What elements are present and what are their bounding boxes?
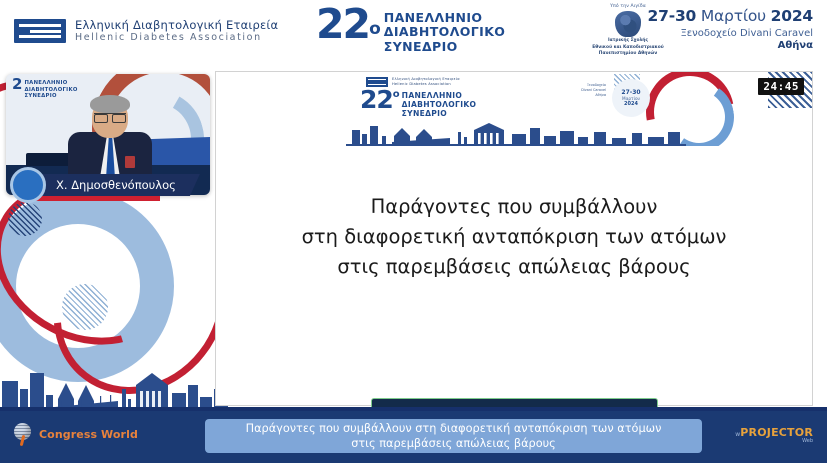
slide-banner-venue: Ξενοδοχείο Divani Caravel Αθήνα — [542, 83, 606, 98]
event-year: 2024 — [771, 7, 813, 25]
speaker-hair — [90, 95, 130, 113]
slide-banner-inner: Ελληνική Διαβητολογική Εταιρεία Hellenic… — [346, 72, 686, 146]
slide-association-name-en: Hellenic Diabetes Association — [392, 82, 460, 87]
presentation-slide[interactable]: Ελληνική Διαβητολογική Εταιρεία Hellenic… — [216, 72, 812, 405]
event-venue: Ξενοδοχείο Divani Caravel — [648, 28, 813, 39]
slide-conference-number: 22 — [360, 88, 393, 111]
slide-banner: Ελληνική Διαβητολογική Εταιρεία Hellenic… — [216, 72, 812, 146]
speaker-avatar — [10, 167, 46, 203]
association-name-en: Hellenic Diabetes Association — [75, 32, 278, 44]
association-name: Ελληνική Διαβητολογική Εταιρεία Hellenic… — [75, 18, 278, 44]
decor-hatch-circle-light — [62, 284, 108, 330]
slide-title-line3: στις παρεμβάσεις απώλειας βάρους — [246, 252, 782, 282]
slide-association-name: Ελληνική Διαβητολογική Εταιρεία Hellenic… — [392, 77, 460, 87]
slide-conference-line2: ΔΙΑΒΗΤΟΛΟΓΙΚΟ — [402, 100, 477, 109]
speaker-name-underline — [24, 196, 160, 201]
event-dates: 27-30 — [648, 7, 697, 25]
eda-logo-icon — [14, 19, 66, 43]
hellenic-diabetes-association-logo: Ελληνική Διαβητολογική Εταιρεία Hellenic… — [14, 18, 278, 44]
video-logo-number: 2 — [12, 78, 22, 92]
video-logo-line2: ΔΙΑΒΗΤΟΛΟΓΙΚΟ — [24, 87, 77, 94]
conference-number-group: 22ο — [316, 5, 381, 44]
speaker-glasses — [94, 113, 126, 121]
slide-conference-line3: ΣΥΝΕΔΡΙΟ — [402, 109, 477, 118]
auspices-line3: Πανεπιστημίου Αθηνών — [586, 51, 670, 58]
slide-title-line2: στη διαφορετική ανταπόκριση των ατόμων — [246, 222, 782, 252]
conference-title-line1: ΠΑΝΕΛΛΗΝΙΟ — [384, 11, 506, 25]
page-footer: Congress World Παράγοντες που συμβάλλουν… — [0, 407, 827, 463]
event-month: Μαρτίου — [701, 7, 766, 25]
congress-world-globe-icon — [14, 423, 34, 445]
speaker-name-banner: Χ. Δημοσθενόπουλος — [8, 174, 210, 196]
event-date-line: 27-30 Μαρτίου 2024 — [648, 7, 813, 25]
congress-world-label: Congress World — [39, 428, 138, 441]
congress-world-logo[interactable]: Congress World — [14, 423, 138, 445]
speaker-badge — [125, 156, 135, 168]
conference-logo: 22ο ΠΑΝΕΛΛΗΝΙΟ ΔΙΑΒΗΤΟΛΟΓΙΚΟ ΣΥΝΕΔΡΙΟ — [316, 5, 505, 54]
slide-conference-line1: ΠΑΝΕΛΛΗΝΙΟ — [402, 91, 477, 100]
speaker-name: Χ. Δημοσθενόπουλος — [56, 178, 176, 192]
slide-title: Παράγοντες που συμβάλλουν στη διαφορετικ… — [246, 192, 782, 283]
slide-city-skyline-icon — [346, 120, 686, 146]
slide-conference-words: ΠΑΝΕΛΛΗΝΙΟ ΔΙΑΒΗΤΟΛΟΓΙΚΟ ΣΥΝΕΔΡΙΟ — [402, 91, 477, 118]
event-city: Αθήνα — [648, 40, 813, 51]
conference-number: 22 — [316, 0, 369, 48]
footer-title-line2: στις παρεμβάσεις απώλειας βάρους — [351, 436, 556, 451]
slide-banner-date-badge: 27-30 Μαρτίου 2024 — [612, 79, 650, 117]
event-date-block: 27-30 Μαρτίου 2024 Ξενοδοχείο Divani Car… — [648, 7, 813, 51]
page-header: Ελληνική Διαβητολογική Εταιρεία Hellenic… — [0, 0, 827, 62]
conference-title-line3: ΣΥΝΕΔΡΙΟ — [384, 40, 506, 54]
conference-title-line2: ΔΙΑΒΗΤΟΛΟΓΙΚΟ — [384, 25, 506, 39]
conference-title: ΠΑΝΕΛΛΗΝΙΟ ΔΙΑΒΗΤΟΛΟΓΙΚΟ ΣΥΝΕΔΡΙΟ — [384, 11, 506, 54]
speaker-figure — [68, 98, 152, 176]
webcast-viewer: Ελληνική Διαβητολογική Εταιρεία Hellenic… — [0, 0, 827, 463]
speaker-name-plate: Χ. Δημοσθενόπουλος — [34, 174, 200, 196]
university-emblem-icon — [615, 11, 641, 37]
association-name-el: Ελληνική Διαβητολογική Εταιρεία — [75, 18, 278, 32]
slide-venue-line3: Αθήνα — [542, 93, 606, 98]
slide-date-year: 2024 — [624, 101, 638, 107]
projector-web-logo[interactable]: wPROJECTOR Web — [735, 426, 813, 444]
footer-title-line1: Παράγοντες που συμβάλλουν στη διαφορετικ… — [246, 421, 662, 436]
countdown-timer: 24:45 — [758, 78, 804, 95]
video-backdrop-logo: 2 ΠΑΝΕΛΛΗΝΙΟ ΔΙΑΒΗΤΟΛΟΓΙΚΟ ΣΥΝΕΔΡΙΟ — [12, 78, 78, 100]
slide-date-days: 27-30 — [621, 89, 640, 96]
slide-conference-ordinal: ο — [393, 89, 400, 100]
footer-session-title-banner: Παράγοντες που συμβάλλουν στη διαφορετικ… — [205, 419, 702, 453]
conference-ordinal: ο — [369, 19, 381, 39]
video-logo-words: ΠΑΝΕΛΛΗΝΙΟ ΔΙΑΒΗΤΟΛΟΓΙΚΟ ΣΥΝΕΔΡΙΟ — [24, 80, 77, 100]
slide-conference-logo: 22ο ΠΑΝΕΛΛΗΝΙΟ ΔΙΑΒΗΤΟΛΟΓΙΚΟ ΣΥΝΕΔΡΙΟ — [360, 88, 476, 118]
decor-hatch-circle-dark — [8, 202, 42, 236]
slide-title-line1: Παράγοντες που συμβάλλουν — [246, 192, 782, 222]
video-logo-line1: ΠΑΝΕΛΛΗΝΙΟ — [24, 80, 77, 87]
